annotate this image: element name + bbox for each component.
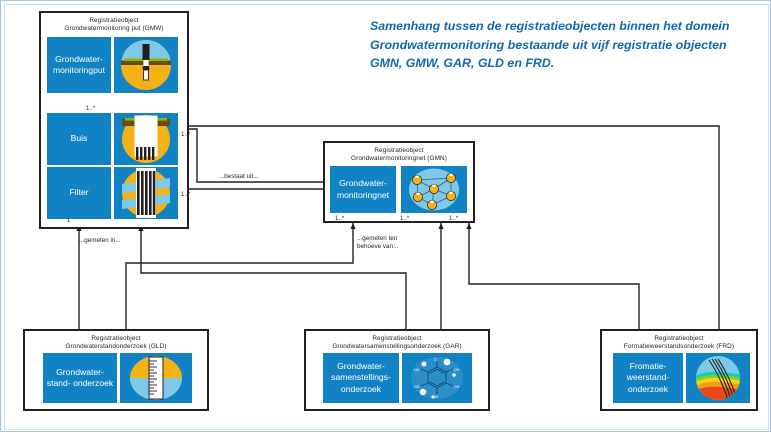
measuring-ruler-icon (120, 353, 192, 403)
group-gmn-title-line1: Registratieobject (374, 147, 423, 154)
group-gar-title: Registratieobject Grondwatersamenstellin… (306, 335, 488, 352)
tile-formatieweerstandonderzoek[interactable]: Fromatie- weerstand- onderzoek (613, 353, 683, 403)
tile-grondwatermonitoringnet[interactable]: Grondwater- monitoringnet (330, 166, 396, 213)
group-gmn-title: Registratieobject Grondwatermonitoringne… (325, 147, 473, 164)
page-title: Samenhang tussen de registratieobjecten … (370, 17, 760, 73)
mult-gmn-left: 1..* (335, 215, 344, 222)
mult-gmn-to-filter: 1..* (181, 191, 190, 198)
monitoring-well-icon (114, 37, 178, 93)
svg-text:OH: OH (454, 368, 460, 372)
mult-gmn-mid: 1..* (400, 215, 409, 222)
diagram-canvas: Samenhang tussen de registratieobjecten … (0, 0, 771, 432)
edge-label-gemeten-ten-behoeve-van: ...gemeten ten behoeve van... (357, 235, 398, 250)
group-gmw-title-line1: Registratieobject (89, 17, 138, 24)
group-gmw-title: Registratieobject Grondwatermonitoring p… (41, 17, 187, 34)
svg-text:HO: HO (414, 368, 420, 372)
svg-text:OH: OH (433, 395, 439, 399)
tile-grondwaterstandonderzoek-label: Grondwater- stand- onderzoek (43, 367, 117, 390)
edge-label-gemeten-in: ...gemeten in... (79, 237, 121, 245)
tile-buis[interactable]: Buis (47, 113, 111, 165)
group-gld-title: Registratieobject Grondwaterstandonderzo… (25, 335, 207, 352)
group-gld-title-line1: Registratieobject (91, 335, 140, 342)
group-gmn-title-line2: Grondwatermonitoringnet (GMN) (325, 155, 473, 163)
tile-grondwatersamenstellingsonderzoek-label: Grondwater- samenstellings- onderzoek (323, 361, 399, 395)
edge-label-bestaat-uit: ...bestaat uit... (219, 173, 259, 181)
group-gar-title-line1: Registratieobject (372, 335, 421, 342)
svg-text:OH: OH (454, 385, 460, 389)
mult-filter-one: 1 (67, 217, 70, 224)
svg-text:HO: HO (414, 385, 420, 389)
tile-filter[interactable]: Filter (47, 167, 111, 219)
well-tube-icon (114, 113, 178, 165)
monitoring-network-icon (401, 166, 467, 213)
group-frd-title-line1: Registratieobject (654, 335, 703, 342)
tile-grondwatermonitoringput[interactable]: Grondwater- monitoringput (47, 37, 111, 93)
group-gld-title-line2: Grondwaterstandonderzoek (GLD) (25, 343, 207, 351)
mult-gmn-right: 1..* (449, 215, 458, 222)
svg-text:O: O (434, 358, 437, 362)
mult-put-to-buis: 1..* (86, 105, 95, 112)
tile-grondwatermonitoringput-label: Grondwater- monitoringput (47, 54, 111, 77)
group-frd-title-line2: Formatieweerstandsonderzoek (FRD) (602, 343, 756, 351)
group-gar-title-line2: Grondwatersamenstellingsonderzoek (GAR) (306, 343, 488, 351)
mult-gmn-to-buis: 1..* (181, 131, 190, 138)
tile-formatieweerstandonderzoek-label: Fromatie- weerstand- onderzoek (613, 361, 683, 395)
group-frd-title: Registratieobject Formatieweerstandsonde… (602, 335, 756, 352)
tile-grondwatersamenstellingsonderzoek[interactable]: Grondwater- samenstellings- onderzoek (323, 353, 399, 403)
group-gmw-title-line2: Grondwatermonitoring put (GMW) (41, 25, 187, 33)
tile-filter-label: Filter (66, 187, 91, 198)
tile-buis-label: Buis (68, 133, 91, 144)
tile-grondwaterstandonderzoek[interactable]: Grondwater- stand- onderzoek (43, 353, 117, 403)
molecule-icon: HO HO OH OH OH O (402, 353, 472, 403)
geological-strata-icon (686, 353, 750, 403)
tile-grondwatermonitoringnet-label: Grondwater- monitoringnet (330, 178, 396, 201)
well-filter-icon (114, 167, 178, 219)
